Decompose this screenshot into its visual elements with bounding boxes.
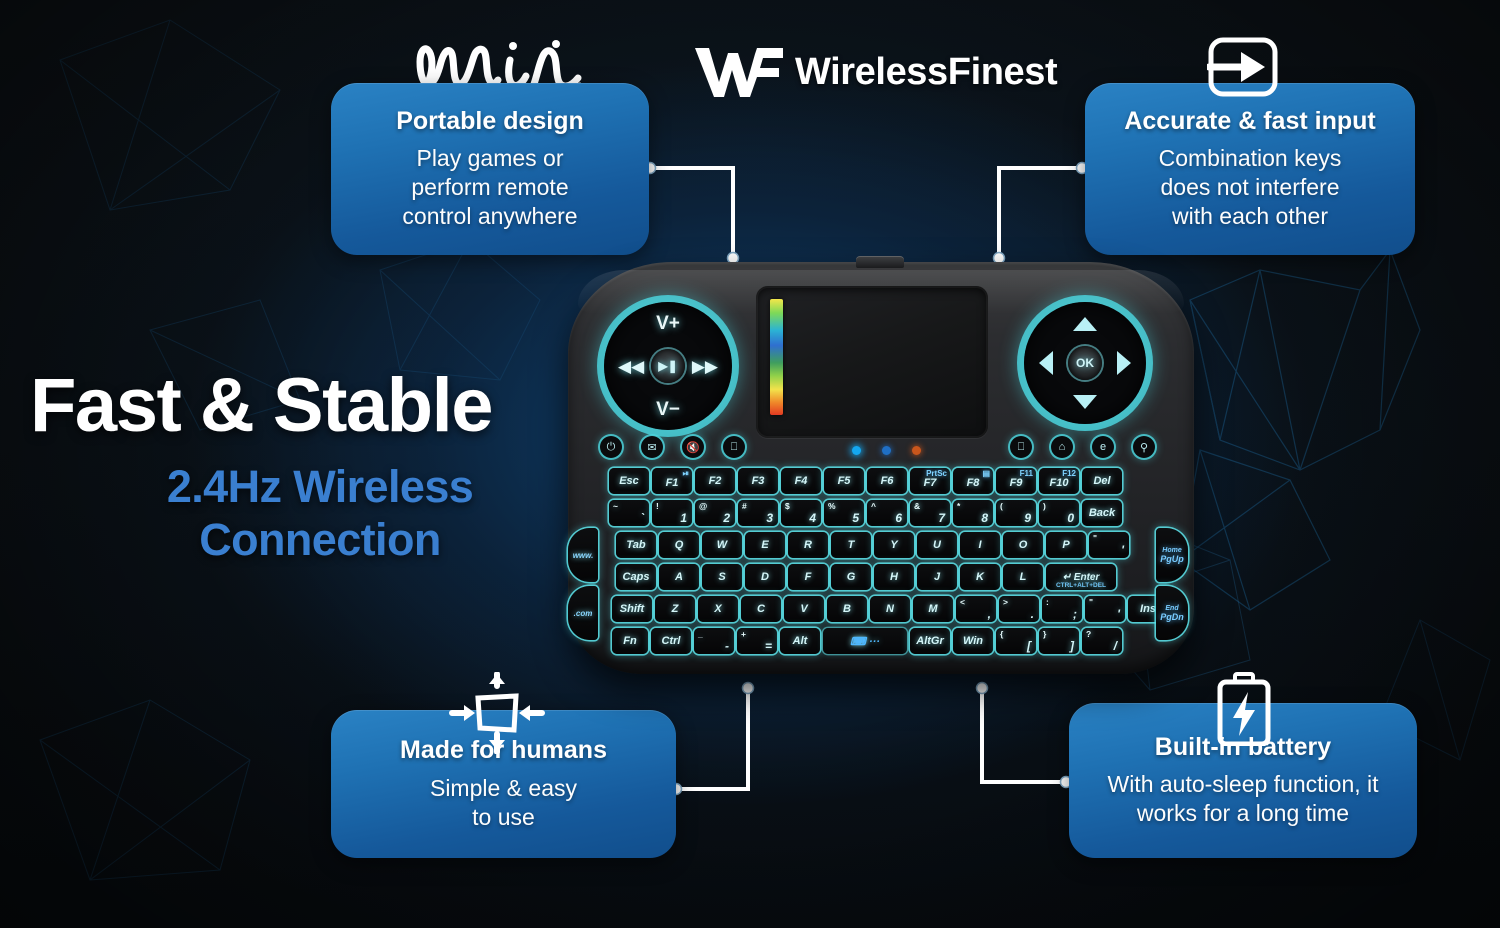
key-label: J bbox=[934, 571, 940, 583]
infographic-canvas: WirelessFinest Portable design Play game… bbox=[0, 0, 1500, 928]
key-label: F10 bbox=[1050, 477, 1069, 489]
key-s[interactable]: S bbox=[702, 564, 742, 590]
key-f5[interactable]: F5 bbox=[824, 468, 864, 494]
key-i[interactable]: I bbox=[960, 532, 1000, 558]
key-label: , bbox=[988, 607, 991, 621]
key-label: 3 bbox=[766, 511, 773, 525]
key-f9[interactable]: F11F9 bbox=[996, 468, 1036, 494]
key-f3[interactable]: F3 bbox=[738, 468, 778, 494]
key-shift-label: ( bbox=[1000, 501, 1003, 511]
key-label: 2 bbox=[723, 511, 730, 525]
key-w[interactable]: W bbox=[702, 532, 742, 558]
key-label: 0 bbox=[1067, 511, 1074, 525]
mini-keyboard-product[interactable]: V+ V− ◀◀ ▶▶ ▶❚ OK ⏻ ✉ 🔇 ⎕ bbox=[560, 250, 1200, 690]
wf-monogram-icon bbox=[693, 44, 785, 100]
brand-logo: WirelessFinest bbox=[693, 44, 1057, 100]
key-label: 4 bbox=[809, 511, 816, 525]
key-label: V bbox=[800, 603, 807, 615]
key-label: 7 bbox=[938, 511, 945, 525]
key-t[interactable]: T bbox=[831, 532, 871, 558]
key-fn-label: F12 bbox=[1062, 469, 1076, 478]
key-m[interactable]: M bbox=[913, 596, 953, 622]
key-label: AltGr bbox=[916, 635, 944, 647]
key-label: T bbox=[848, 539, 855, 551]
key-shift-label: * bbox=[957, 501, 960, 511]
key-l[interactable]: L bbox=[1003, 564, 1043, 590]
key-fn-label: F11 bbox=[1020, 469, 1033, 478]
key-[interactable]: "' bbox=[1085, 596, 1125, 622]
key-label: 9 bbox=[1024, 511, 1031, 525]
key-label: F9 bbox=[1010, 477, 1023, 489]
key-label: / bbox=[1114, 639, 1117, 653]
key-shift-label: ? bbox=[1086, 629, 1091, 639]
key-f2[interactable]: F2 bbox=[695, 468, 735, 494]
key-[interactable]: ~` bbox=[609, 500, 649, 526]
headline-secondary: 2.4Hz Wireless Connection bbox=[30, 460, 550, 566]
key-d[interactable]: D bbox=[745, 564, 785, 590]
key-label: Back bbox=[1089, 507, 1115, 519]
key-label: ` bbox=[640, 511, 644, 525]
key-[interactable]: += bbox=[737, 628, 777, 654]
key-label: S bbox=[718, 571, 725, 583]
key-q[interactable]: Q bbox=[659, 532, 699, 558]
side-key-pgdn[interactable]: EndPgDn bbox=[1156, 586, 1188, 640]
key-label: I bbox=[978, 539, 981, 551]
key-label: D bbox=[761, 571, 769, 583]
key-altgr[interactable]: AltGr bbox=[910, 628, 950, 654]
key-shift-label: : bbox=[1046, 597, 1049, 607]
key-label: 8 bbox=[981, 511, 988, 525]
side-key-com[interactable]: .com bbox=[568, 586, 598, 640]
key-label: F1 bbox=[666, 477, 679, 489]
key-f10[interactable]: F12F10 bbox=[1039, 468, 1079, 494]
key-[interactable]: ?/ bbox=[1082, 628, 1122, 654]
key-f4[interactable]: F4 bbox=[781, 468, 821, 494]
key-o[interactable]: O bbox=[1003, 532, 1043, 558]
side-key-label: PgDn bbox=[1160, 612, 1184, 622]
key-combo-label: CTRL+ALT+DEL bbox=[1046, 582, 1116, 589]
key-label: Ctrl bbox=[662, 635, 681, 647]
key-label: P bbox=[1062, 539, 1069, 551]
key-shift-label: ) bbox=[1043, 501, 1046, 511]
key-enter[interactable]: ↵ EnterCTRL+ALT+DEL bbox=[1046, 564, 1116, 590]
key-4[interactable]: $4 bbox=[781, 500, 821, 526]
key-8[interactable]: *8 bbox=[953, 500, 993, 526]
key-shift-label: # bbox=[742, 501, 747, 511]
key-n[interactable]: N bbox=[870, 596, 910, 622]
key-shift-label: ! bbox=[656, 501, 659, 511]
side-key-label: PgUp bbox=[1160, 554, 1184, 564]
key-1[interactable]: !1 bbox=[652, 500, 692, 526]
key-shift-label: < bbox=[960, 597, 965, 607]
key-fn-label: PrtSc bbox=[926, 469, 947, 478]
card-title: Accurate & fast input bbox=[1124, 107, 1375, 136]
card-title: Portable design bbox=[396, 107, 584, 136]
key-label: Caps bbox=[623, 571, 650, 583]
key-label: H bbox=[890, 571, 898, 583]
key-u[interactable]: U bbox=[917, 532, 957, 558]
key-e[interactable]: E bbox=[745, 532, 785, 558]
key-r[interactable]: R bbox=[788, 532, 828, 558]
input-arrow-icon bbox=[1207, 36, 1279, 98]
key-caps[interactable]: Caps bbox=[616, 564, 656, 590]
card-body: With auto-sleep function, it works for a… bbox=[1107, 770, 1378, 828]
key-label: Shift bbox=[620, 603, 644, 615]
key-label: ] bbox=[1070, 639, 1074, 653]
key-label: M bbox=[928, 603, 937, 615]
key-label: [ bbox=[1027, 639, 1031, 653]
key-shift-label: " bbox=[1089, 597, 1093, 607]
key-h[interactable]: H bbox=[874, 564, 914, 590]
headline-block: Fast & Stable 2.4Hz Wireless Connection bbox=[30, 368, 550, 566]
key-label: A bbox=[675, 571, 683, 583]
key-label: X bbox=[714, 603, 721, 615]
key-3[interactable]: #3 bbox=[738, 500, 778, 526]
side-key-sup: End bbox=[1165, 605, 1178, 612]
key-g[interactable]: G bbox=[831, 564, 871, 590]
key-tab[interactable]: Tab bbox=[616, 532, 656, 558]
key-shift-label: { bbox=[1000, 629, 1003, 639]
key-label: U bbox=[933, 539, 941, 551]
key-matrix[interactable]: Esc⏯F1F2F3F4F5F6PrtScF7▤F8F11F9F12F10Del… bbox=[560, 250, 1200, 690]
key-label: - bbox=[725, 639, 729, 653]
key-label: F5 bbox=[838, 475, 851, 487]
key-p[interactable]: P bbox=[1046, 532, 1086, 558]
key-label: Del bbox=[1093, 475, 1110, 487]
key-a[interactable]: A bbox=[659, 564, 699, 590]
key-v[interactable]: V bbox=[784, 596, 824, 622]
key-k[interactable]: K bbox=[960, 564, 1000, 590]
key-label: Y bbox=[890, 539, 897, 551]
key-label: . bbox=[1031, 607, 1034, 621]
key-label: E bbox=[761, 539, 768, 551]
key-alt[interactable]: Alt bbox=[780, 628, 820, 654]
key-x[interactable]: X bbox=[698, 596, 738, 622]
key-[interactable]: }] bbox=[1039, 628, 1079, 654]
key-label: W bbox=[717, 539, 727, 551]
key-label: Alt bbox=[793, 635, 808, 647]
key-del[interactable]: Del bbox=[1082, 468, 1122, 494]
key-label: B bbox=[843, 603, 851, 615]
key-f6[interactable]: F6 bbox=[867, 468, 907, 494]
key-label: F8 bbox=[967, 477, 980, 489]
key-f8[interactable]: ▤F8 bbox=[953, 468, 993, 494]
key-label: Esc bbox=[619, 475, 639, 487]
headline-primary: Fast & Stable bbox=[30, 368, 550, 444]
key-label: K bbox=[976, 571, 984, 583]
key-f1[interactable]: ⏯F1 bbox=[652, 468, 692, 494]
key-[interactable]: :; bbox=[1042, 596, 1082, 622]
key-label: R bbox=[804, 539, 812, 551]
side-key-www[interactable]: www. bbox=[568, 528, 598, 582]
key-[interactable]: "' bbox=[1089, 532, 1129, 558]
key-label: ↵ Enter bbox=[1063, 572, 1100, 583]
key-ctrl[interactable]: Ctrl bbox=[651, 628, 691, 654]
key-label: F6 bbox=[881, 475, 894, 487]
key-shift-label: ~ bbox=[613, 501, 618, 511]
key-label: F bbox=[805, 571, 812, 583]
key-label: F7 bbox=[924, 477, 937, 489]
key-label: G bbox=[847, 571, 856, 583]
card-body: Play games or perform remote control any… bbox=[402, 144, 577, 231]
key-[interactable]: >. bbox=[999, 596, 1039, 622]
key-shift-label: ^ bbox=[871, 501, 876, 511]
key-back[interactable]: Back bbox=[1082, 500, 1122, 526]
brand-name: WirelessFinest bbox=[795, 51, 1057, 94]
key-fn-label: ⏯ bbox=[683, 469, 689, 479]
key-label: 1 bbox=[680, 511, 687, 525]
key-[interactable]: {[ bbox=[996, 628, 1036, 654]
key-5[interactable]: %5 bbox=[824, 500, 864, 526]
key-c[interactable]: C bbox=[741, 596, 781, 622]
key-y[interactable]: Y bbox=[874, 532, 914, 558]
key-label: Q bbox=[675, 539, 684, 551]
key-shift-label: + bbox=[741, 629, 746, 639]
key-shift-label: $ bbox=[785, 501, 790, 511]
key-label: L bbox=[1020, 571, 1027, 583]
key-shift-label: @ bbox=[699, 501, 707, 511]
key-label: Z bbox=[672, 603, 679, 615]
key-shift-label: _ bbox=[698, 629, 703, 639]
key-space-key[interactable]: ⌨ ··· bbox=[823, 628, 907, 654]
key-label: Ins bbox=[1140, 603, 1156, 615]
key-label: ' bbox=[1117, 607, 1120, 621]
key-label: ' bbox=[1121, 543, 1124, 557]
side-key-pgup[interactable]: HomePgUp bbox=[1156, 528, 1188, 582]
key-label: 5 bbox=[852, 511, 859, 525]
key-2[interactable]: @2 bbox=[695, 500, 735, 526]
key-win[interactable]: Win bbox=[953, 628, 993, 654]
key-shift-label: " bbox=[1093, 533, 1097, 543]
key-shift-label: > bbox=[1003, 597, 1008, 607]
key-f[interactable]: F bbox=[788, 564, 828, 590]
key-label: ; bbox=[1073, 607, 1077, 621]
key-0[interactable]: )0 bbox=[1039, 500, 1079, 526]
key-fn-label: ▤ bbox=[982, 469, 990, 478]
key-label: Win bbox=[963, 635, 983, 647]
key-label: N bbox=[886, 603, 894, 615]
key-label: Tab bbox=[626, 539, 645, 551]
key-label: Fn bbox=[623, 635, 636, 647]
key-label: F3 bbox=[752, 475, 765, 487]
side-key-sup: Home bbox=[1162, 547, 1181, 554]
key-label: C bbox=[757, 603, 765, 615]
key-j[interactable]: J bbox=[917, 564, 957, 590]
key-7[interactable]: &7 bbox=[910, 500, 950, 526]
key-b[interactable]: B bbox=[827, 596, 867, 622]
key-z[interactable]: Z bbox=[655, 596, 695, 622]
key-label: F2 bbox=[709, 475, 722, 487]
key-shift-label: & bbox=[914, 501, 920, 511]
key-esc[interactable]: Esc bbox=[609, 468, 649, 494]
key-label: O bbox=[1019, 539, 1028, 551]
card-body: Combination keys does not interfere with… bbox=[1159, 144, 1342, 231]
key-shift-label: % bbox=[828, 501, 836, 511]
key-6[interactable]: ^6 bbox=[867, 500, 907, 526]
key-[interactable]: _- bbox=[694, 628, 734, 654]
key-9[interactable]: (9 bbox=[996, 500, 1036, 526]
key-fn[interactable]: Fn bbox=[612, 628, 648, 654]
key-label: = bbox=[765, 639, 772, 653]
key-label: F4 bbox=[795, 475, 808, 487]
key-shift[interactable]: Shift bbox=[612, 596, 652, 622]
key-[interactable]: <, bbox=[956, 596, 996, 622]
key-f7[interactable]: PrtScF7 bbox=[910, 468, 950, 494]
key-shift-label: } bbox=[1043, 629, 1046, 639]
key-label: 6 bbox=[895, 511, 902, 525]
card-body: Simple & easy to use bbox=[430, 774, 577, 832]
